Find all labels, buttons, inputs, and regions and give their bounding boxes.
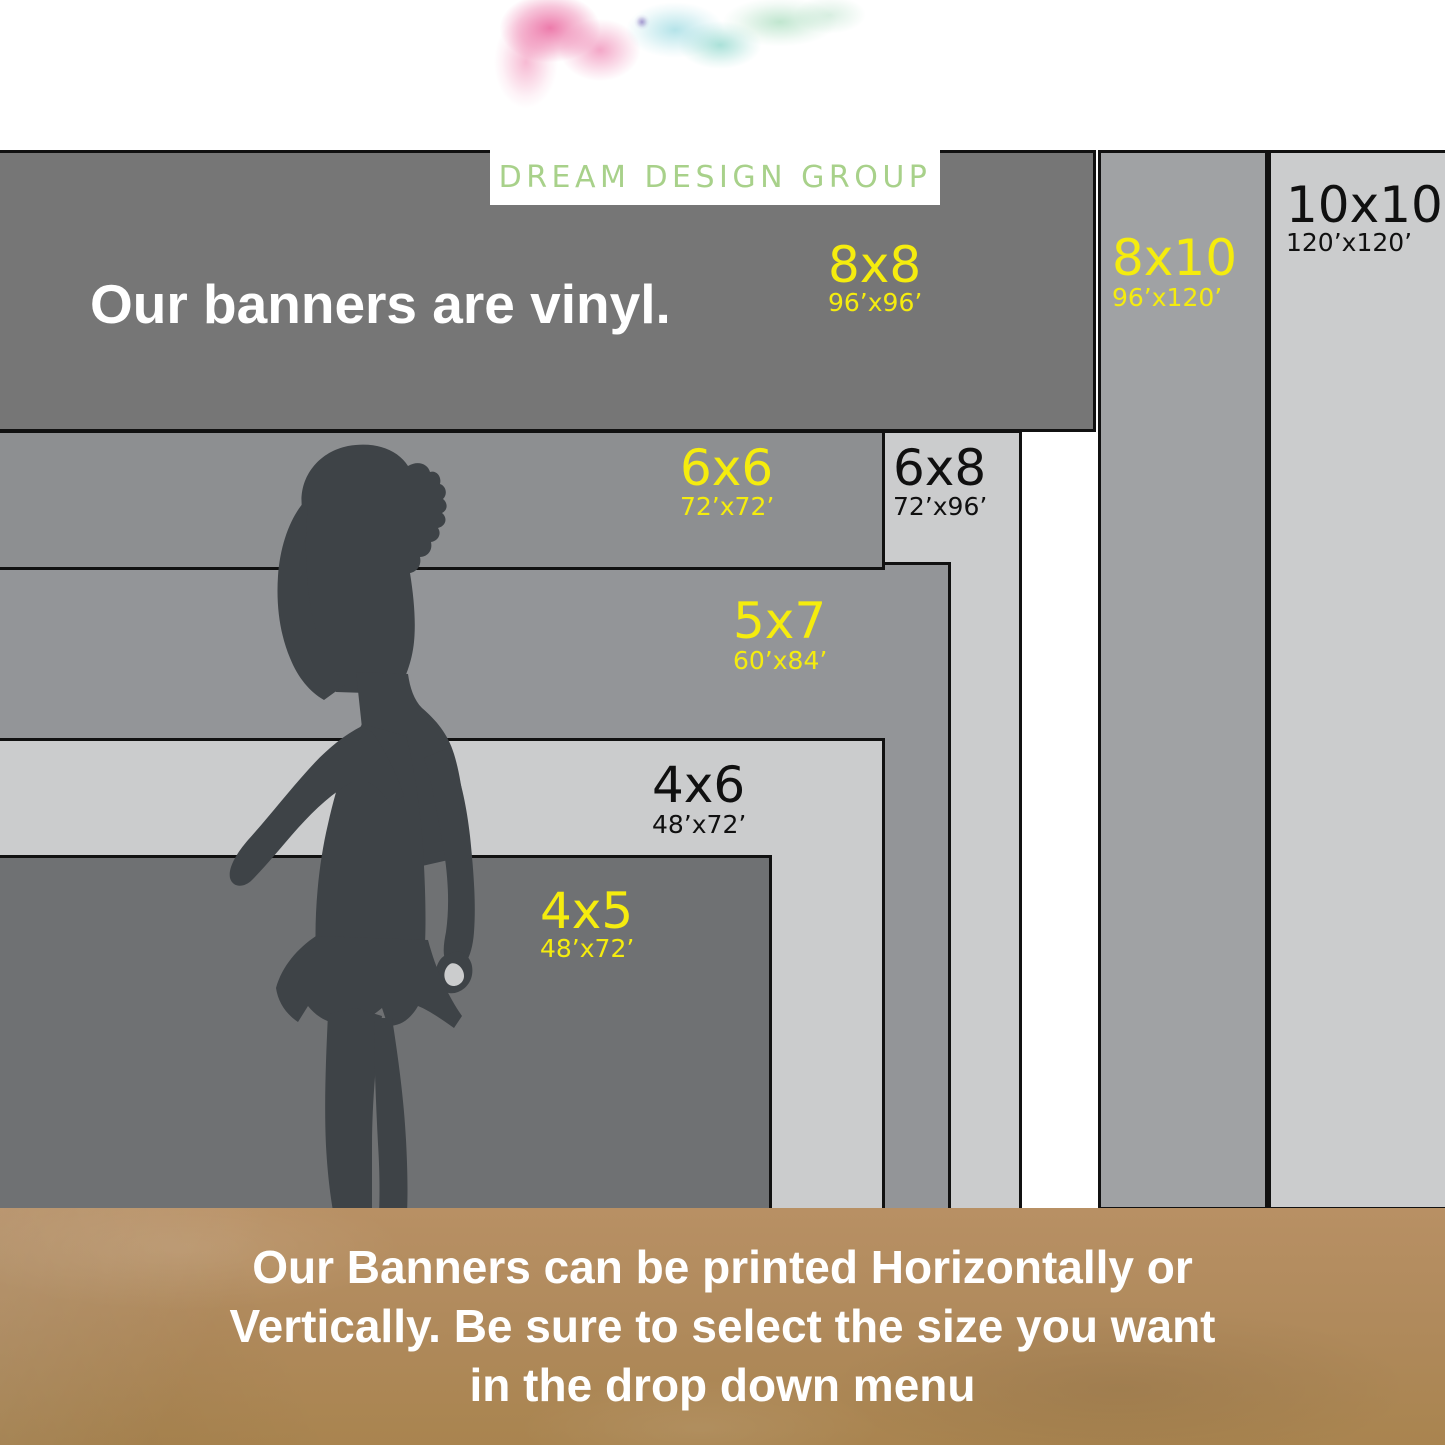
footer-line-3: in the drop down menu	[470, 1356, 976, 1415]
panel-4x5-dimensions-label: 48’x72’	[540, 936, 634, 961]
panel-6x6-dimensions-label: 72’x72’	[680, 494, 774, 519]
footer-line-2: Vertically. Be sure to select the size y…	[230, 1297, 1216, 1356]
footer-caption-band: Our Banners can be printed Horizontally …	[0, 1208, 1445, 1445]
panel-8x10-dimensions-label: 96’x120’	[1112, 285, 1222, 310]
panel-10x10-dimensions-label: 120’x120’	[1286, 230, 1412, 255]
panel-6x6-size-label: 6x6	[680, 443, 773, 493]
banner-size-chart-image: 10x10 120’x120’ 6x8 72’x96’ 5x7 60’x84’ …	[0, 0, 1445, 1445]
panel-6x8-size-label: 6x8	[893, 443, 986, 493]
panel-5x7-dimensions-label: 60’x84’	[733, 648, 827, 673]
watercolor-splash-icon	[490, 0, 940, 115]
panel-4x5	[0, 855, 772, 1212]
panel-4x5-size-label: 4x5	[540, 886, 633, 936]
panel-6x8-dimensions-label: 72’x96’	[893, 494, 987, 519]
panel-8x8-dimensions-label: 96’x96’	[828, 290, 922, 315]
panel-4x6-dimensions-label: 48’x72’	[652, 812, 746, 837]
footer-line-1: Our Banners can be printed Horizontally …	[252, 1238, 1193, 1297]
panel-5x7-size-label: 5x7	[733, 596, 826, 646]
headline-text: Our banners are vinyl.	[90, 272, 671, 336]
panel-10x10-size-label: 10x10	[1286, 180, 1443, 230]
panel-4x6-size-label: 4x6	[652, 760, 745, 810]
panel-8x8-size-label: 8x8	[828, 240, 921, 290]
panel-10x10	[1268, 150, 1445, 1210]
panel-8x10-size-label: 8x10	[1112, 233, 1237, 283]
